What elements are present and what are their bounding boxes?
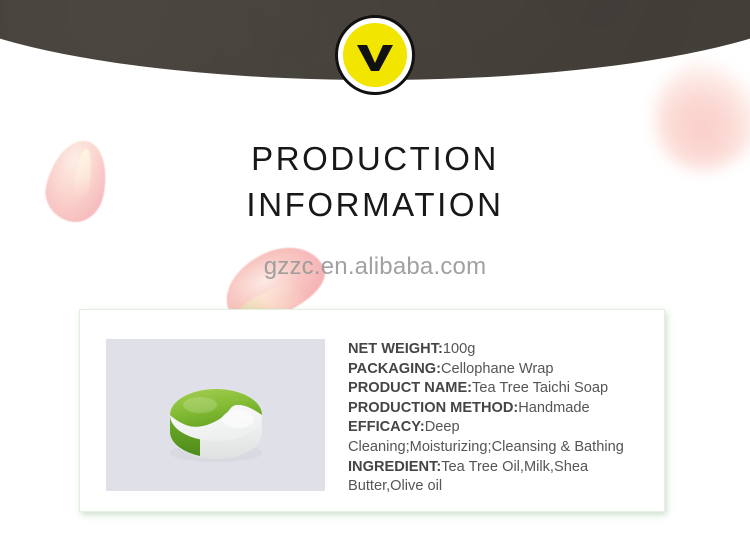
spec-value: 100g [443,341,475,357]
spec-value: Handmade [518,400,589,416]
spec-value: Cellophane Wrap [441,361,554,377]
taichi-soap-image [156,369,274,467]
spec-key: INGREDIENT: [348,459,441,475]
spec-key: PRODUCT NAME: [348,380,472,396]
page-title: PRODUCTION INFORMATION [0,136,750,228]
page-title-line-1: PRODUCTION [0,136,750,182]
spec-line: INGREDIENT:Tea Tree Oil,Milk,Shea Butter… [348,458,654,497]
spec-line: EFFICACY:Deep Cleaning;Moisturizing;Clea… [348,418,654,457]
spec-line: PRODUCTION METHOD:Handmade [348,399,654,419]
spec-value: Tea Tree Taichi Soap [472,380,608,396]
product-spec-list: NET WEIGHT:100g PACKAGING:Cellophane Wra… [348,340,654,497]
spec-key: PRODUCTION METHOD: [348,400,518,416]
spec-key: EFFICACY: [348,419,425,435]
brand-logo [335,15,415,95]
spec-line: NET WEIGHT:100g [348,340,654,360]
spec-line: PACKAGING:Cellophane Wrap [348,360,654,380]
spec-key: PACKAGING: [348,361,441,377]
page-title-line-2: INFORMATION [0,182,750,228]
spec-key: NET WEIGHT: [348,341,443,357]
site-watermark: gzzc.en.alibaba.com [0,253,750,281]
product-information-banner: PRODUCTION INFORMATION gzzc.en.alibaba.c… [0,0,750,539]
product-photo [106,339,325,491]
product-info-card: NET WEIGHT:100g PACKAGING:Cellophane Wra… [79,309,665,512]
logo-v-icon [335,15,415,95]
spec-line: PRODUCT NAME:Tea Tree Taichi Soap [348,379,654,399]
